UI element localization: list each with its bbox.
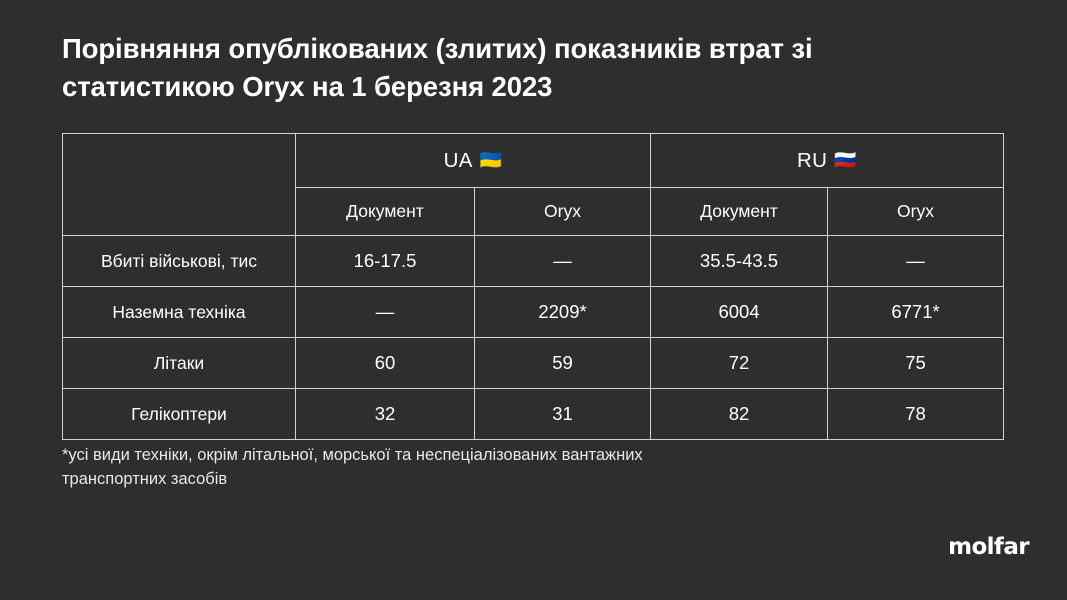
cell-killed-ua-document: 16-17.5 xyxy=(296,236,475,287)
cell-killed-ru-document: 35.5-43.5 xyxy=(651,236,828,287)
table-row: Наземна техніка — 2209* 6004 6771* xyxy=(63,287,1004,338)
cell-aircraft-ru-oryx: 75 xyxy=(828,338,1004,389)
row-label-ground-equipment: Наземна техніка xyxy=(63,287,296,338)
cell-aircraft-ua-oryx: 59 xyxy=(475,338,651,389)
row-label-killed-soldiers: Вбиті військові, тис xyxy=(63,236,296,287)
row-label-aircraft: Літаки xyxy=(63,338,296,389)
table-row: Вбиті військові, тис 16-17.5 — 35.5-43.5… xyxy=(63,236,1004,287)
column-group-ua: UA🇺🇦 xyxy=(296,134,651,188)
cell-aircraft-ua-document: 60 xyxy=(296,338,475,389)
column-group-ru: RU🇷🇺 xyxy=(651,134,1004,188)
column-group-ru-label: RU xyxy=(797,149,827,172)
slide-canvas: Порівняння опублікованих (злитих) показн… xyxy=(0,0,1067,600)
column-header-ua-document: Документ xyxy=(296,188,475,236)
column-header-ru-document: Документ xyxy=(651,188,828,236)
table-corner-cell xyxy=(63,134,296,236)
column-group-ua-label: UA xyxy=(444,149,473,172)
comparison-table-container: UA🇺🇦 RU🇷🇺 Документ Oryx Документ Oryx Вб… xyxy=(62,133,1003,440)
cell-helicopters-ru-document: 82 xyxy=(651,389,828,440)
table-row: Літаки 60 59 72 75 xyxy=(63,338,1004,389)
cell-aircraft-ru-document: 72 xyxy=(651,338,828,389)
cell-ground-ru-oryx: 6771* xyxy=(828,287,1004,338)
row-label-helicopters: Гелікоптери xyxy=(63,389,296,440)
column-header-ua-oryx: Oryx xyxy=(475,188,651,236)
molfar-logo: molfar xyxy=(948,534,1029,560)
footnote-text: *усі види техніки, окрім літальної, морс… xyxy=(62,444,932,492)
cell-ground-ru-document: 6004 xyxy=(651,287,828,338)
cell-killed-ru-oryx: — xyxy=(828,236,1004,287)
page-title: Порівняння опублікованих (злитих) показн… xyxy=(62,30,962,105)
cell-ground-ua-document: — xyxy=(296,287,475,338)
cell-ground-ua-oryx: 2209* xyxy=(475,287,651,338)
flag-ukraine-icon: 🇺🇦 xyxy=(480,150,503,170)
cell-helicopters-ua-oryx: 31 xyxy=(475,389,651,440)
comparison-table: UA🇺🇦 RU🇷🇺 Документ Oryx Документ Oryx Вб… xyxy=(62,133,1004,440)
flag-russia-icon: 🇷🇺 xyxy=(834,150,857,170)
cell-killed-ua-oryx: — xyxy=(475,236,651,287)
cell-helicopters-ua-document: 32 xyxy=(296,389,475,440)
table-group-header-row: UA🇺🇦 RU🇷🇺 xyxy=(63,134,1004,188)
column-header-ru-oryx: Oryx xyxy=(828,188,1004,236)
table-row: Гелікоптери 32 31 82 78 xyxy=(63,389,1004,440)
cell-helicopters-ru-oryx: 78 xyxy=(828,389,1004,440)
